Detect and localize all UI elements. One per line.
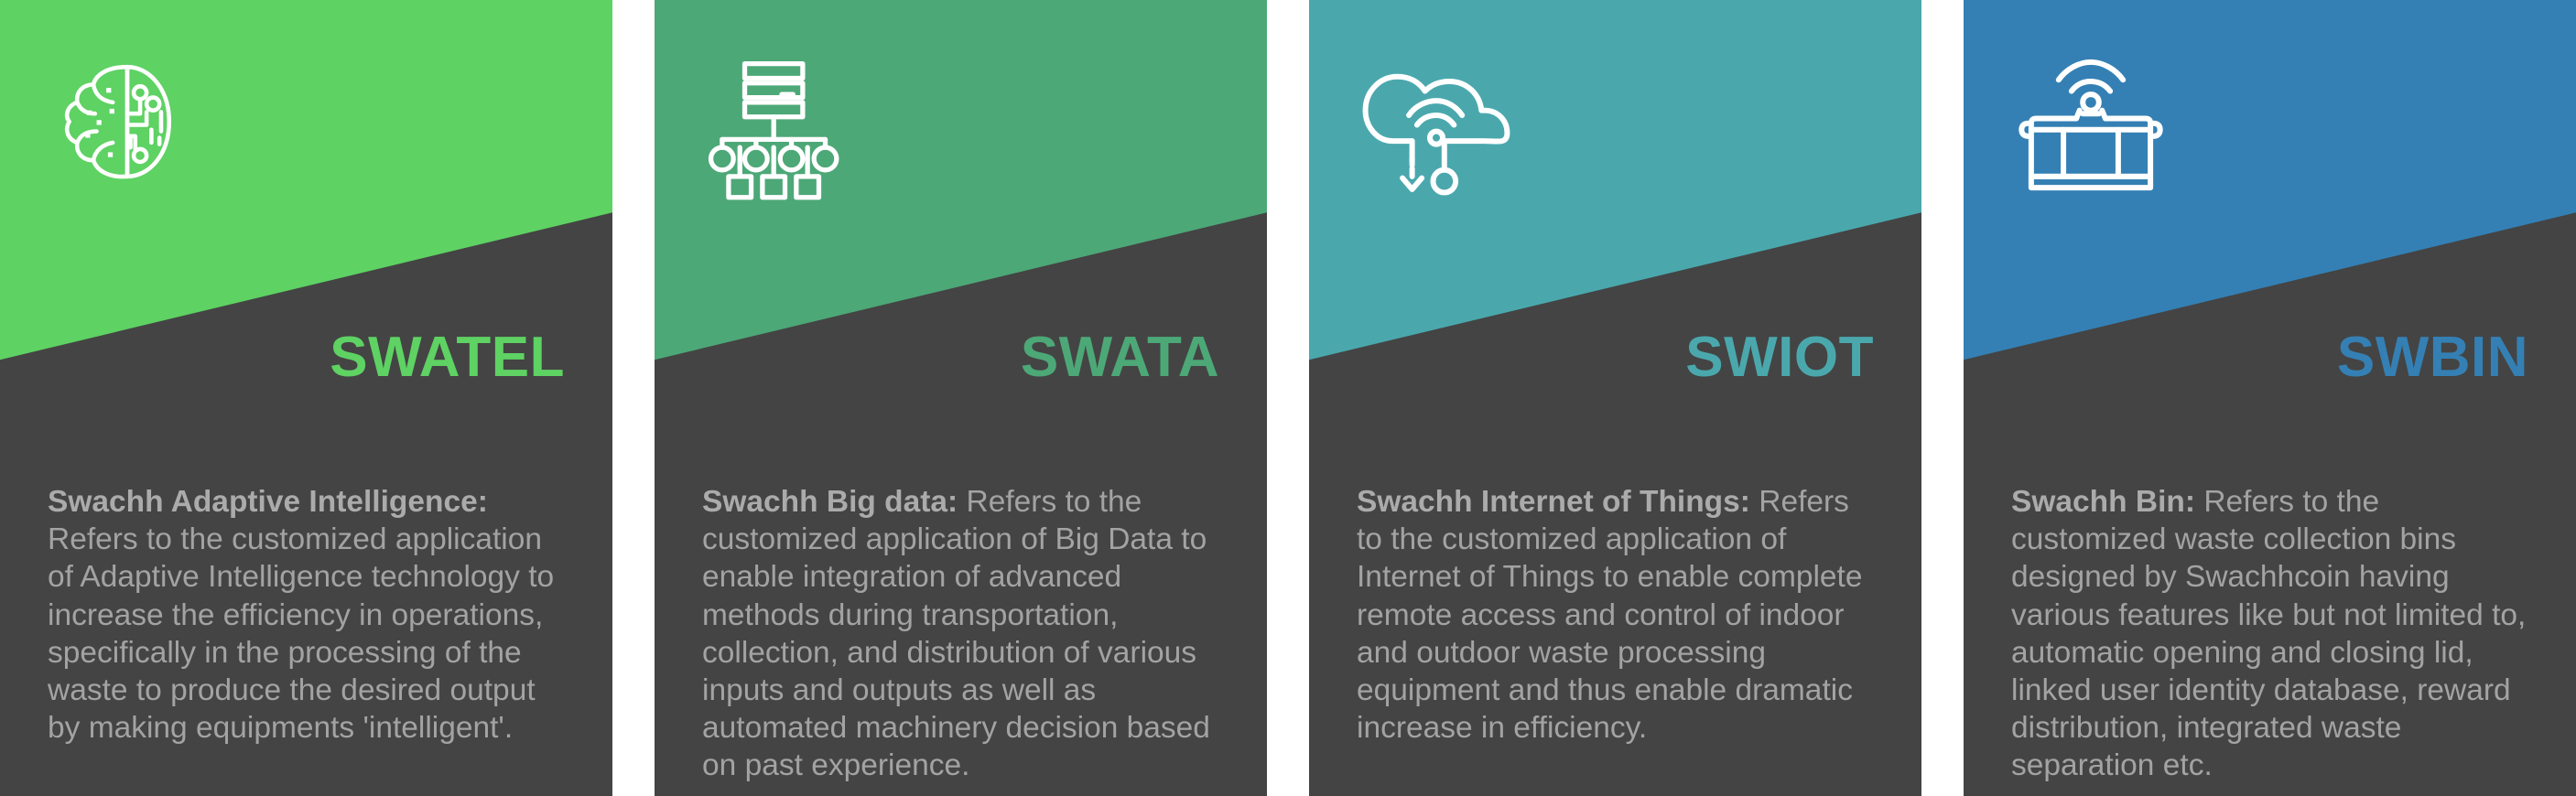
- card-description: Swachh Bin: Refers to the customized was…: [2011, 483, 2528, 785]
- card-title-swbin: SWBIN: [2337, 329, 2528, 386]
- card-description-lead: Swachh Big data:: [702, 485, 958, 519]
- card-description-lead: Swachh Internet of Things:: [1357, 485, 1750, 519]
- feature-card-row: SWATEL Swachh Adaptive Intelligence: Ref…: [0, 0, 2576, 796]
- card-description: Swachh Adaptive Intelligence: Refers to …: [48, 483, 565, 747]
- feature-card-swatel[interactable]: SWATEL Swachh Adaptive Intelligence: Ref…: [0, 0, 612, 796]
- feature-card-swata[interactable]: SWATA Swachh Big data: Refers to the cus…: [655, 0, 1267, 796]
- card-title-swiot: SWIOT: [1685, 329, 1874, 386]
- card-description-lead: Swachh Bin:: [2011, 485, 2195, 519]
- card-description-lead: Swachh Adaptive Intelligence:: [48, 485, 488, 519]
- server-hierarchy-icon: [695, 35, 869, 209]
- card-description-body: Refers to the customized application of …: [48, 522, 554, 745]
- card-description-body: Refers to the customized waste collectio…: [2011, 485, 2526, 782]
- card-title-swatel: SWATEL: [330, 329, 565, 386]
- feature-card-swbin[interactable]: SWBIN Swachh Bin: Refers to the customiz…: [1964, 0, 2576, 796]
- smart-waste-bin-icon: [2004, 35, 2178, 209]
- cloud-wifi-node-icon: [1349, 35, 1523, 209]
- card-description-body: Refers to the customized application of …: [1357, 485, 1863, 745]
- brain-circuit-icon: [40, 35, 214, 209]
- card-description: Swachh Big data: Refers to the customize…: [702, 483, 1219, 785]
- feature-card-swiot[interactable]: SWIOT Swachh Internet of Things: Refers …: [1309, 0, 1921, 796]
- card-description: Swachh Internet of Things: Refers to the…: [1357, 483, 1874, 747]
- card-title-swata: SWATA: [1021, 329, 1219, 386]
- card-description-body: Refers to the customized application of …: [702, 485, 1210, 782]
